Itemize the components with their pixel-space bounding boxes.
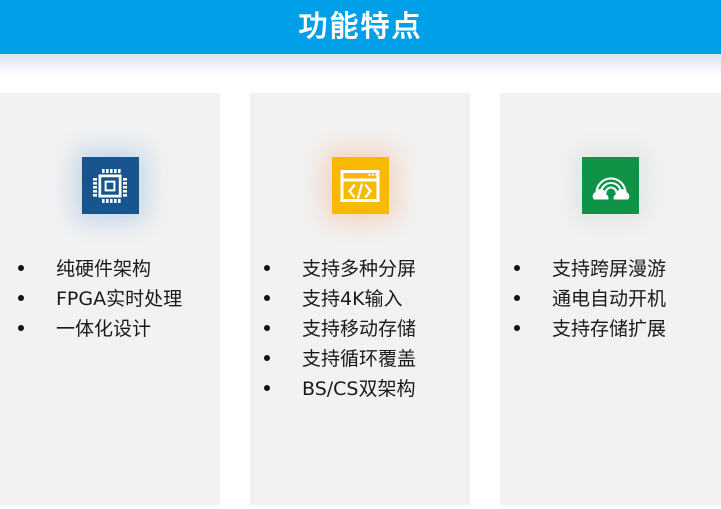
list-item: BS/CS双架构 [250,376,470,402]
list-item: 支持4K输入 [250,286,470,312]
bullet-icon [514,295,520,301]
bullet-icon [264,325,270,331]
feature-card-display[interactable]: 支持多种分屏 支持4K输入 支持移动存储 支持循环覆盖 BS/CS双架构 [250,93,470,505]
list-item-label: FPGA实时处理 [56,286,182,312]
list-item: 支持循环覆盖 [250,346,470,372]
feature-list: 支持多种分屏 支持4K输入 支持移动存储 支持循环覆盖 BS/CS双架构 [250,256,470,406]
list-item-label: 支持移动存储 [302,316,416,342]
list-item: FPGA实时处理 [0,286,220,312]
bullet-icon [18,295,24,301]
feature-card-hardware[interactable]: 纯硬件架构 FPGA实时处理 一体化设计 [0,93,220,505]
card-icon-container [500,157,721,214]
header-banner: 功能特点 [0,0,721,54]
bullet-icon [264,295,270,301]
list-item-label: 支持多种分屏 [302,256,416,282]
list-item-label: 支持4K输入 [302,286,403,312]
list-item-label: BS/CS双架构 [302,376,416,402]
bullet-icon [264,355,270,361]
card-icon-container [0,157,220,214]
list-item-label: 支持存储扩展 [552,316,666,342]
bullet-icon [514,325,520,331]
list-item: 支持跨屏漫游 [500,256,721,282]
list-item-label: 通电自动开机 [552,286,666,312]
bullet-icon [264,385,270,391]
bullet-icon [18,265,24,271]
code-window-icon [332,157,389,214]
header-shadow-divider [0,54,721,76]
list-item-label: 支持跨屏漫游 [552,256,666,282]
page-title: 功能特点 [298,13,422,42]
bullet-icon [18,325,24,331]
list-item-label: 支持循环覆盖 [302,346,416,372]
cpu-chip-icon [82,157,139,214]
feature-cards-row: 纯硬件架构 FPGA实时处理 一体化设计 [0,93,721,509]
bullet-icon [514,265,520,271]
feature-list: 纯硬件架构 FPGA实时处理 一体化设计 [0,256,220,346]
list-item: 通电自动开机 [500,286,721,312]
card-icon-container [250,157,470,214]
list-item: 支持存储扩展 [500,316,721,342]
list-item: 支持多种分屏 [250,256,470,282]
feature-card-extension[interactable]: 支持跨屏漫游 通电自动开机 支持存储扩展 [500,93,721,505]
rainbow-cloud-icon [582,157,639,214]
list-item: 支持移动存储 [250,316,470,342]
list-item: 纯硬件架构 [0,256,220,282]
list-item-label: 纯硬件架构 [56,256,151,282]
list-item: 一体化设计 [0,316,220,342]
list-item-label: 一体化设计 [56,316,151,342]
feature-list: 支持跨屏漫游 通电自动开机 支持存储扩展 [500,256,721,346]
bullet-icon [264,265,270,271]
